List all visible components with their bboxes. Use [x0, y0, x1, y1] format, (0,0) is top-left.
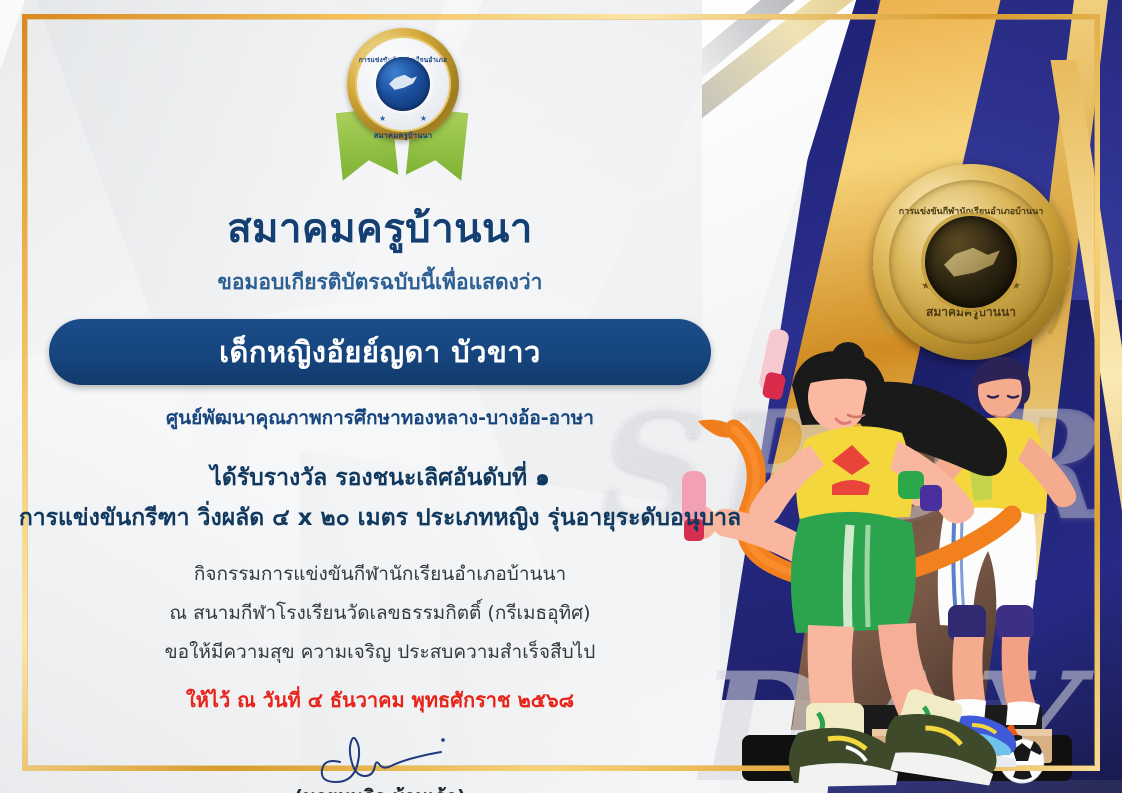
body-line-blessing: ขอให้มีความสุข ความเจริญ ประสบความสำเร็จ…: [0, 637, 760, 667]
education-center-line: ศูนย์พัฒนาคุณภาพการศึกษาทองหลาง-บางอ้อ-อ…: [0, 403, 760, 433]
certificate-subtitle: ขอมอบเกียรติบัตรฉบับนี้เพื่อแสดงว่า: [0, 266, 760, 299]
body-line-activity: กิจกรรมการแข่งขันกีฬานักเรียนอำเภอบ้านนา: [0, 559, 760, 589]
recipient-name-banner: เด็กหญิงอัยย์ญดา บัวขาว: [49, 319, 711, 385]
organization-title: สมาคมครูบ้านนา: [0, 196, 760, 260]
relay-baton: [758, 328, 790, 401]
certificate-content: สมาคมครูบ้านนา ขอมอบเกียรติบัตรฉบับนี้เพ…: [0, 0, 760, 793]
recipient-name: เด็กหญิงอัยย์ญดา บัวขาว: [219, 329, 541, 375]
award-event-line: การแข่งขันกรีฑา วิ่งผลัด ๔ x ๒๐ เมตร ประ…: [0, 500, 760, 536]
issue-date-line: ให้ไว้ ณ วันที่ ๔ ธันวาคม พุทธศักราช ๒๕๖…: [0, 684, 760, 716]
signatory-name: (นายมนูกิจ บ้านเล้า): [0, 782, 760, 793]
award-rank-line: ได้รับรางวัล รองชนะเลิศอันดับที่ ๑: [0, 460, 760, 496]
signature-block: (นายมนูกิจ บ้านเล้า) นายกสมาคมครูบ้านนา: [0, 732, 760, 793]
body-line-venue: ณ สนามกีฬาโรงเรียนวัดเลขธรรมกิตติ์ (กรีเ…: [0, 598, 760, 628]
certificate-canvas: SPORT DAY: [0, 0, 1122, 793]
signature-mark: [310, 732, 450, 786]
